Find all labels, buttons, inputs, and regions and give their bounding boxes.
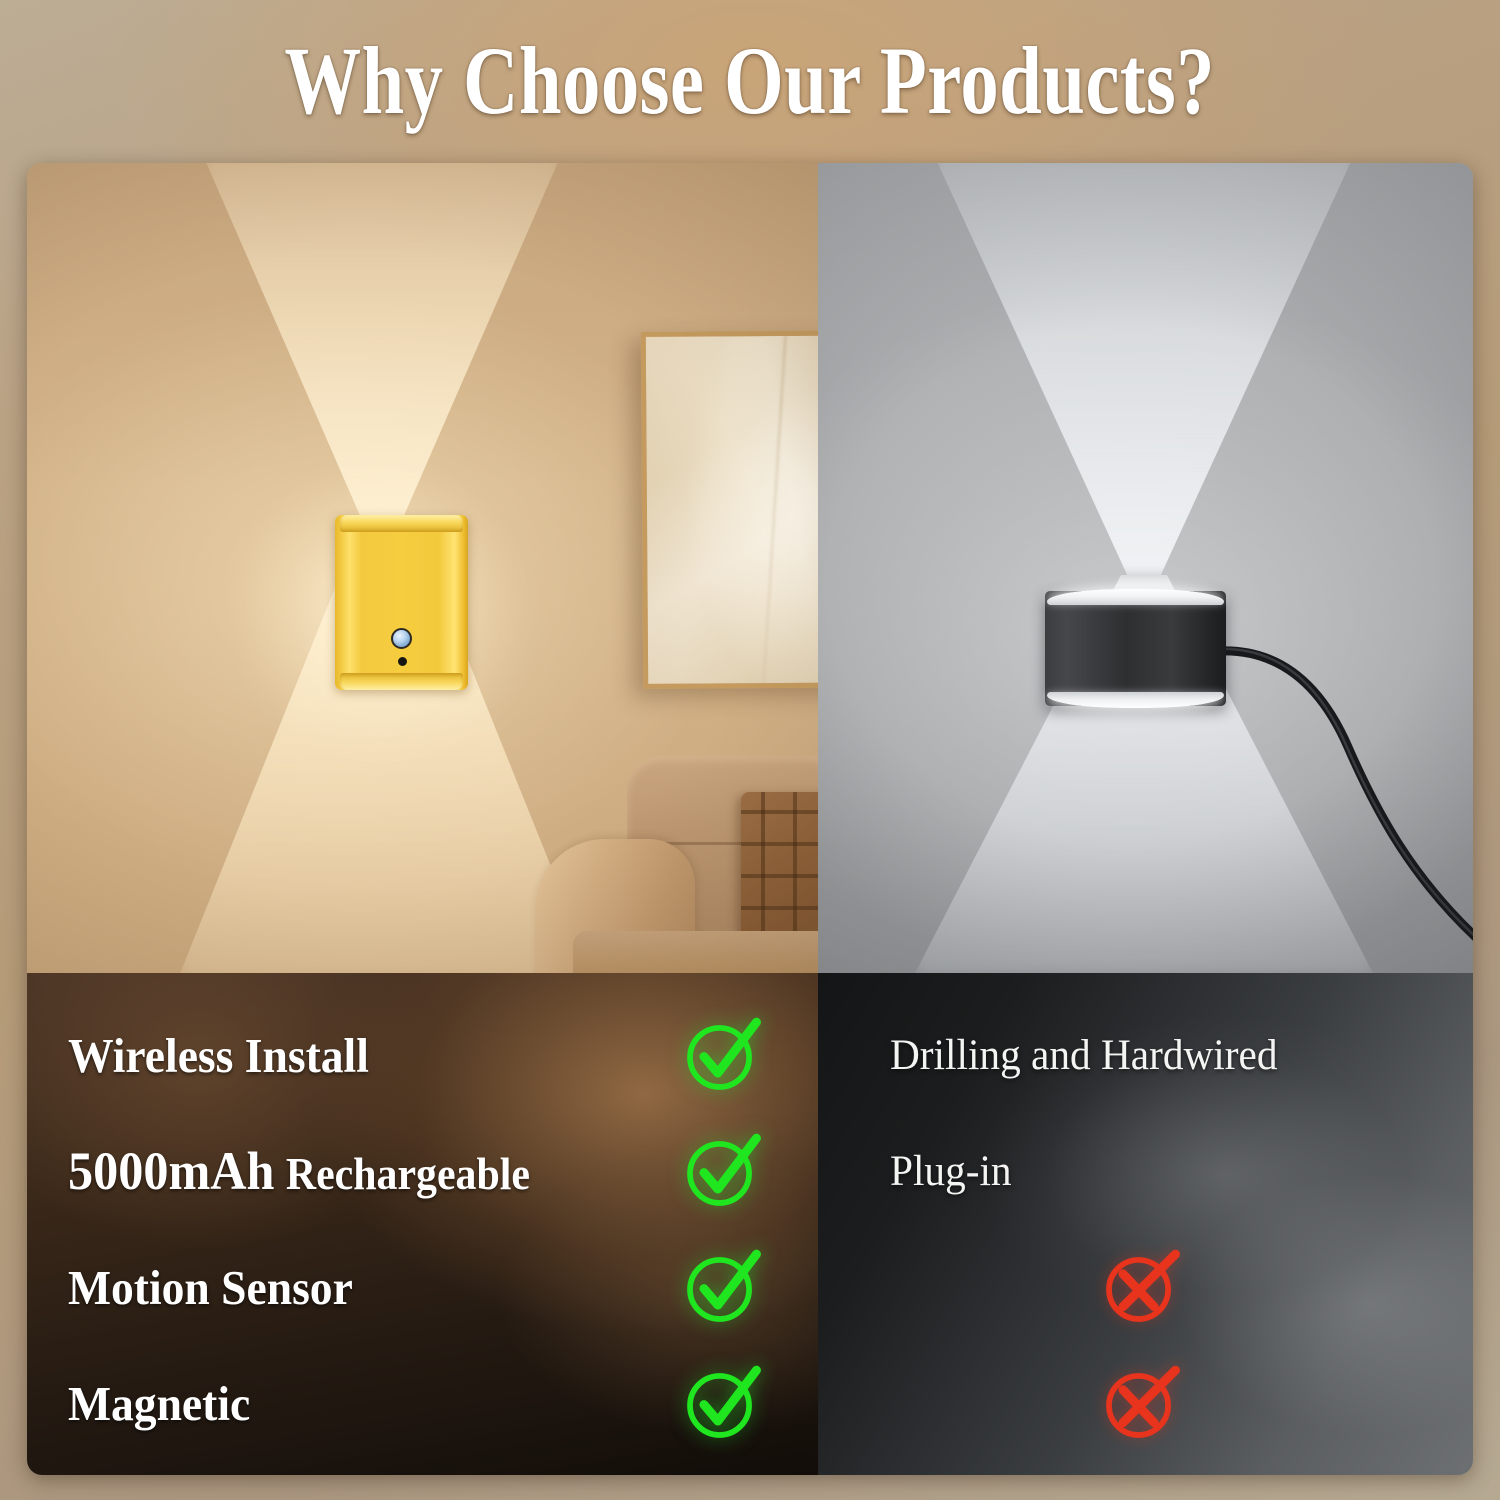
competitor-product-photo [818, 163, 1473, 973]
competitor-feature-rows: Drilling and Hardwired Plug-in [818, 973, 1473, 1475]
comparison-panel: Wireless Install 5000mAh Rechargeable [27, 163, 1473, 1475]
our-feature-list: Wireless Install 5000mAh Rechargeable [27, 973, 818, 1475]
check-icon [681, 1130, 763, 1212]
our-product-photo [27, 163, 818, 973]
feature-row-magnetic: Magnetic [68, 1357, 763, 1449]
check-icon [681, 1014, 763, 1096]
cross-mark-wrap [1100, 1246, 1182, 1328]
feature-row-rechargeable: 5000mAh Rechargeable [68, 1125, 763, 1217]
drawback-label: Drilling and Hardwired [890, 1031, 1411, 1080]
drawback-label: Plug-in [890, 1147, 1411, 1196]
cross-icon [1100, 1362, 1182, 1444]
gray-scene-vignette [818, 163, 1473, 973]
feature-label: Wireless Install [68, 1027, 638, 1084]
feature-label: Magnetic [68, 1375, 638, 1432]
feature-label: Motion Sensor [68, 1259, 638, 1316]
feature-row-wireless-install: Wireless Install [68, 1009, 763, 1101]
drawback-row-not-magnetic [890, 1357, 1433, 1449]
infographic-page: Why Choose Our Products? [0, 0, 1500, 1500]
drawback-row-hardwired: Drilling and Hardwired [890, 1009, 1433, 1101]
feature-label: 5000mAh Rechargeable [68, 1140, 638, 1202]
feature-row-motion-sensor: Motion Sensor [68, 1241, 763, 1333]
cross-icon [1100, 1246, 1182, 1328]
check-icon [681, 1246, 763, 1328]
feature-label-capacity: 5000mAh [68, 1141, 274, 1201]
cross-mark-wrap [1100, 1362, 1182, 1444]
page-title-text: Why Choose Our Products? [285, 33, 1216, 129]
feature-label-rechargeable: Rechargeable [286, 1149, 530, 1199]
competitor-feature-list: Drilling and Hardwired Plug-in [818, 973, 1473, 1475]
drawback-row-plug-in: Plug-in [890, 1125, 1433, 1217]
page-title: Why Choose Our Products? [0, 16, 1500, 146]
drawback-row-no-motion-sensor [890, 1241, 1433, 1333]
warm-scene-vignette [27, 163, 818, 973]
check-icon [681, 1362, 763, 1444]
our-feature-rows: Wireless Install 5000mAh Rechargeable [27, 973, 818, 1475]
